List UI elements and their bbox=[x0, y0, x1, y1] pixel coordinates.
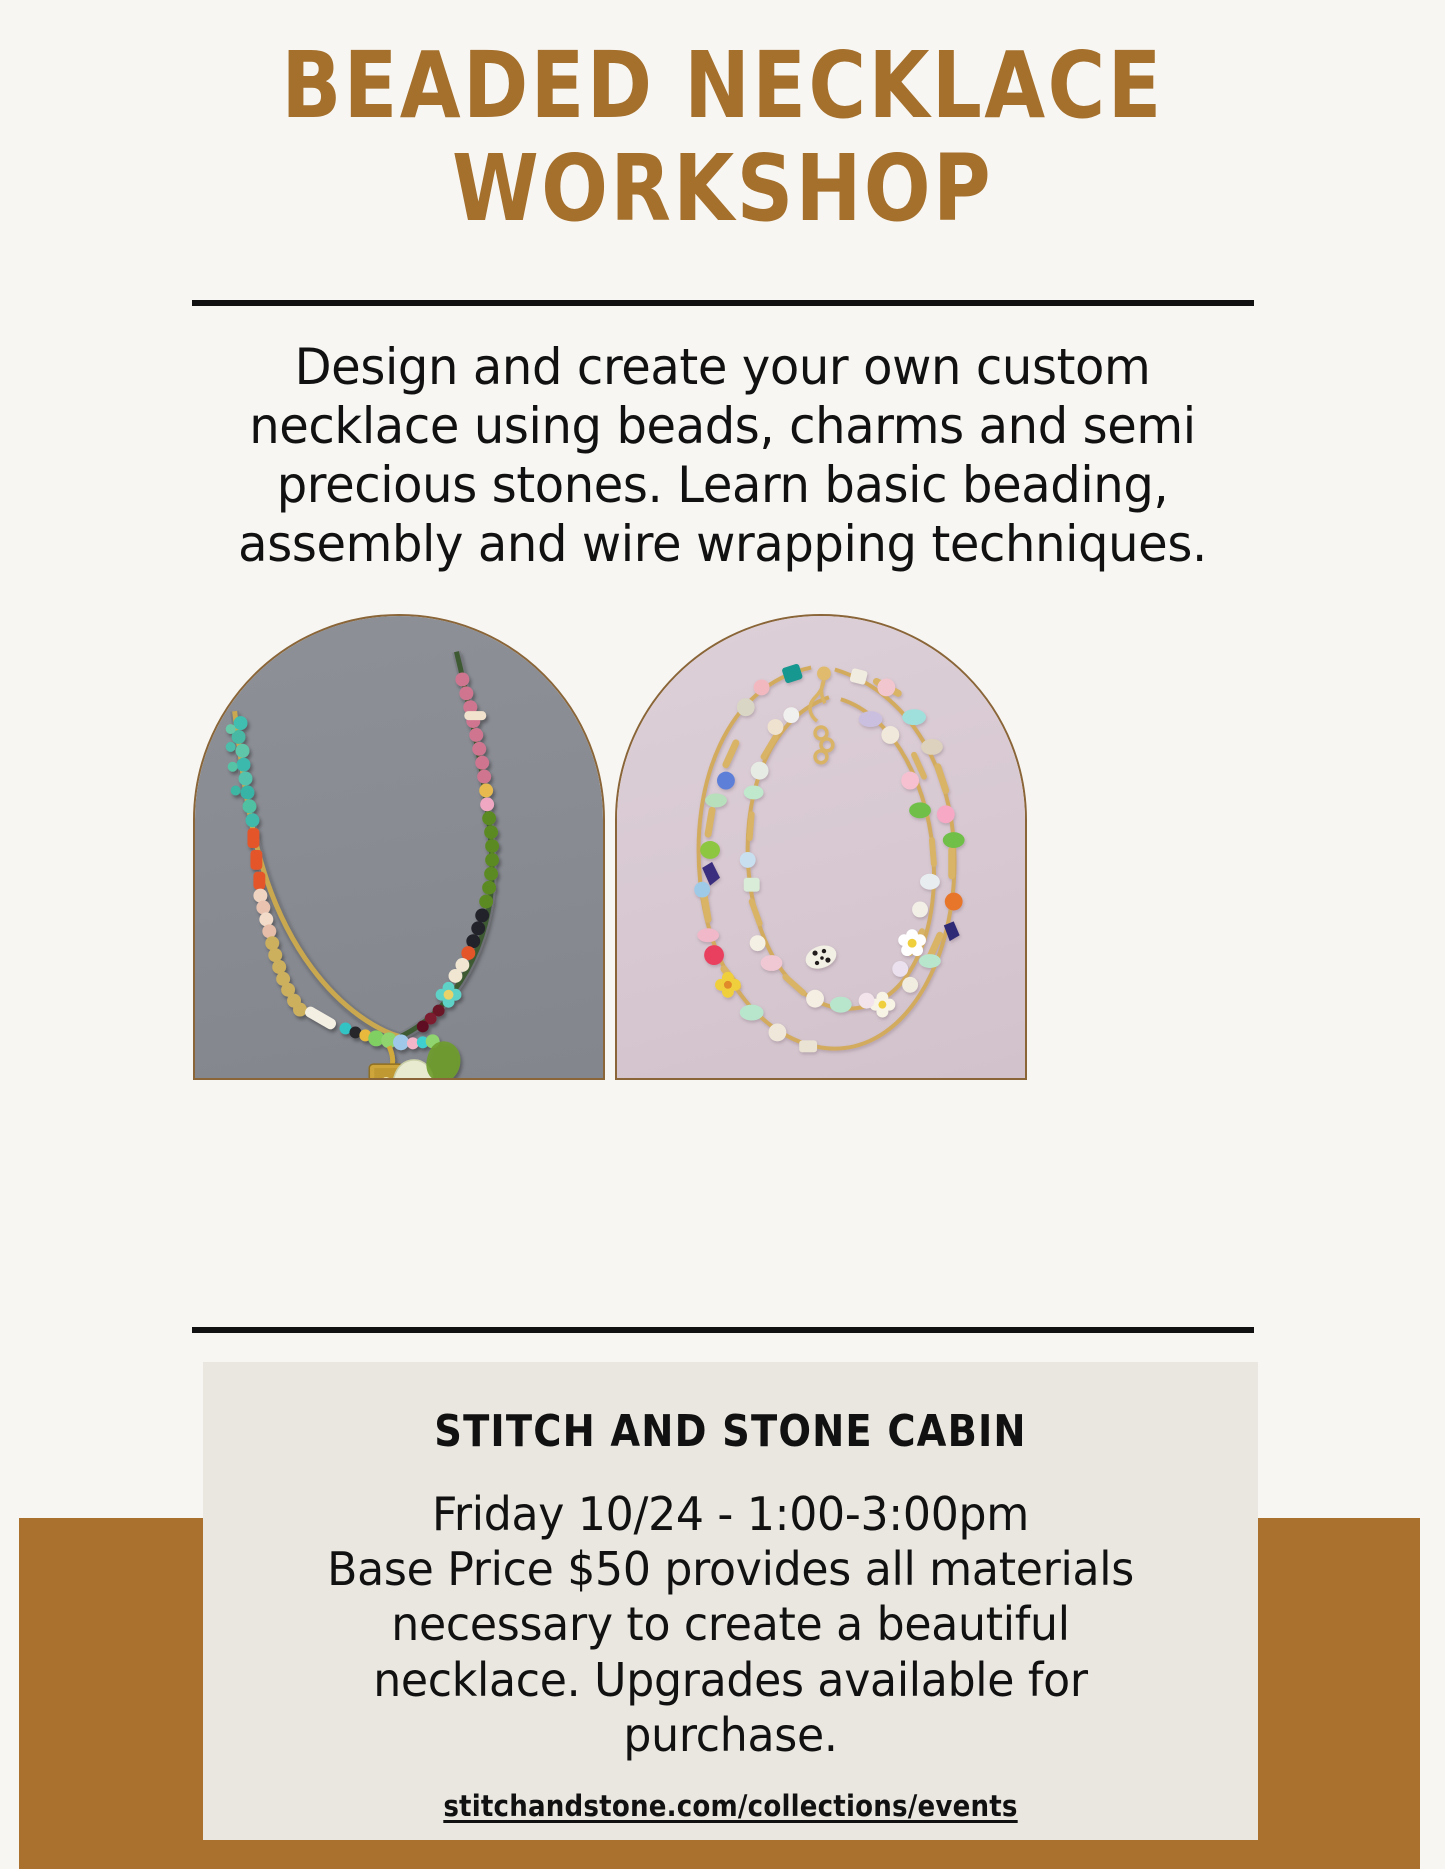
pricing-line-4: purchase. bbox=[263, 1708, 1199, 1763]
poster-canvas: BEADED NECKLACE WORKSHOP Design and crea… bbox=[0, 0, 1445, 1869]
pricing-line-2: necessary to create a beautiful bbox=[263, 1597, 1199, 1652]
divider-top bbox=[192, 300, 1254, 306]
page-title: BEADED NECKLACE WORKSHOP bbox=[0, 34, 1445, 240]
divider-bottom bbox=[192, 1327, 1254, 1333]
necklace-illustration-gray bbox=[195, 616, 603, 1078]
description-line-4: assembly and wire wrapping techniques. bbox=[125, 515, 1320, 574]
description-text: Design and create your own custom neckla… bbox=[125, 338, 1320, 574]
photo-beaded-necklace-pink bbox=[615, 614, 1027, 1080]
pricing-line-1: Base Price $50 provides all materials bbox=[263, 1542, 1199, 1597]
event-url-link[interactable]: stitchandstone.com/collections/events bbox=[443, 1789, 1017, 1823]
event-details: Friday 10/24 - 1:00-3:00pm Base Price $5… bbox=[263, 1487, 1199, 1763]
photo-beaded-necklace-gray bbox=[193, 614, 605, 1080]
title-line-2: WORKSHOP bbox=[36, 137, 1409, 240]
venue-name: STITCH AND STONE CABIN bbox=[258, 1406, 1204, 1457]
description-line-2: necklace using beads, charms and semi bbox=[125, 397, 1320, 456]
event-schedule: Friday 10/24 - 1:00-3:00pm bbox=[263, 1487, 1199, 1542]
description-line-1: Design and create your own custom bbox=[125, 338, 1320, 397]
title-line-1: BEADED NECKLACE bbox=[36, 34, 1409, 137]
pricing-line-3: necklace. Upgrades available for bbox=[263, 1653, 1199, 1708]
necklace-illustration-pink bbox=[617, 616, 1025, 1078]
photo-gallery bbox=[0, 614, 1445, 1084]
event-info-box: STITCH AND STONE CABIN Friday 10/24 - 1:… bbox=[203, 1362, 1258, 1840]
description-line-3: precious stones. Learn basic beading, bbox=[125, 456, 1320, 515]
